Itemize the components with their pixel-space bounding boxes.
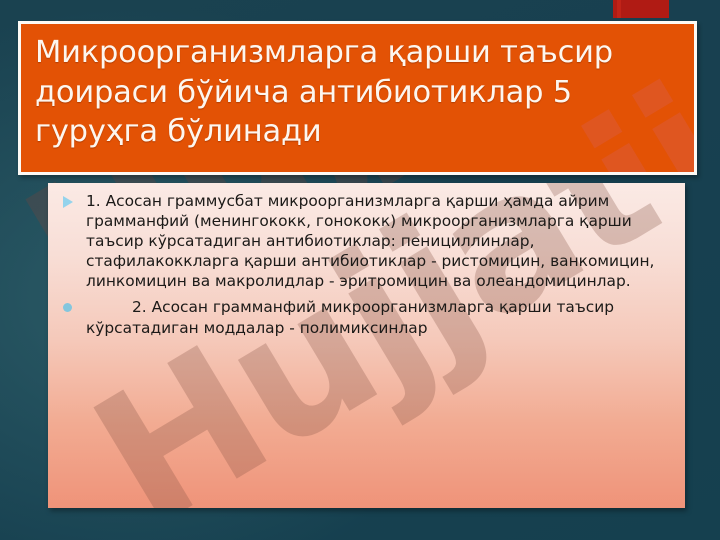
list-item: 1. Асосан граммусбат микроорганизмларга … (56, 191, 673, 291)
bullet-text-2: 2. Асосан грамманфий микроорганизмларга … (86, 298, 614, 336)
accent-block-top-right (613, 0, 669, 18)
list-item: 2. Асосан грамманфий микроорганизмларга … (56, 297, 673, 337)
dot-bullet-icon (63, 303, 72, 312)
presentation-slide: Hujjat 24 Hujjat 24 Микроорганизмларга қ… (0, 0, 720, 540)
triangle-bullet-icon (63, 196, 73, 208)
bullet-list: 1. Асосан граммусбат микроорганизмларга … (56, 191, 673, 338)
content-placeholder: Hujjat 24 1. Асосан граммусбат микроорга… (48, 183, 685, 508)
page-title: Микроорганизмларга қарши таъсир доираси … (21, 24, 694, 152)
title-placeholder: Hujjat 24 Микроорганизмларга қарши таъси… (18, 21, 697, 175)
bullet-text-1: 1. Асосан граммусбат микроорганизмларга … (86, 192, 654, 290)
